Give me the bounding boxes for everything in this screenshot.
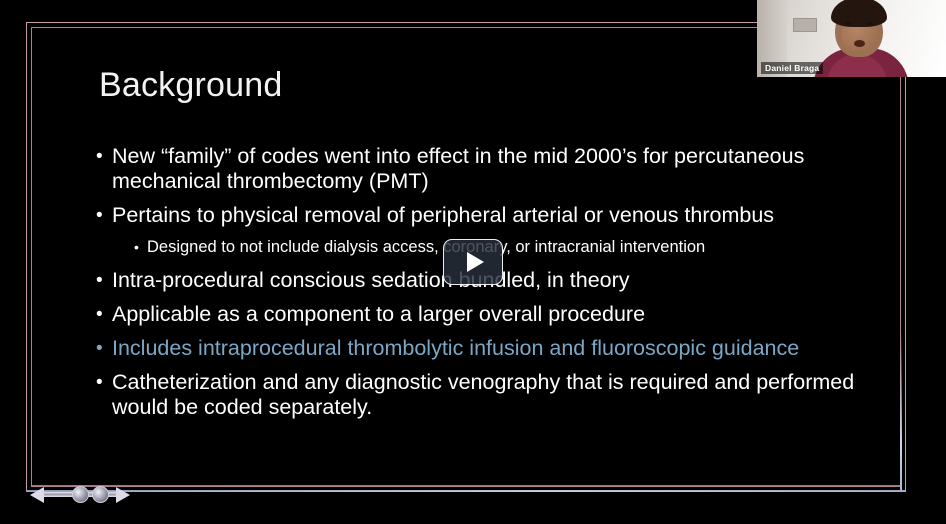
list-item-text: Includes intraprocedural thrombolytic in… bbox=[112, 336, 866, 361]
bullet-icon: • bbox=[134, 237, 147, 257]
slide-navigation-ornament bbox=[30, 478, 130, 512]
video-slide-viewer: Background • New “family” of codes went … bbox=[0, 0, 946, 524]
slide-frame-bottom-accent bbox=[26, 490, 906, 492]
bullet-icon: • bbox=[96, 144, 112, 169]
bullet-icon: • bbox=[96, 336, 112, 361]
webcam-person-hair bbox=[831, 0, 887, 27]
bullet-icon: • bbox=[96, 268, 112, 293]
slide-frame-right-accent bbox=[900, 330, 902, 492]
participant-name-label: Daniel Braga bbox=[761, 62, 823, 74]
webcam-person-mouth bbox=[854, 40, 865, 47]
list-item-text: Designed to not include dialysis access,… bbox=[147, 237, 866, 257]
list-item-highlighted: • Includes intraprocedural thrombolytic … bbox=[96, 336, 866, 361]
ornament-circle bbox=[72, 486, 89, 503]
bullet-icon: • bbox=[96, 203, 112, 228]
list-item: • New “family” of codes went into effect… bbox=[96, 144, 866, 194]
list-item: • Pertains to physical removal of periph… bbox=[96, 203, 866, 228]
slide-bullet-list: • New “family” of codes went into effect… bbox=[96, 144, 866, 429]
webcam-overlay[interactable]: Daniel Braga bbox=[757, 0, 946, 77]
arrow-right-icon bbox=[116, 487, 130, 503]
list-item-text: Applicable as a component to a larger ov… bbox=[112, 302, 866, 327]
list-item-text: New “family” of codes went into effect i… bbox=[112, 144, 866, 194]
bullet-icon: • bbox=[96, 302, 112, 327]
list-item-text: Pertains to physical removal of peripher… bbox=[112, 203, 866, 228]
list-item-text: Catheterization and any diagnostic venog… bbox=[112, 370, 866, 420]
webcam-person-eye-left bbox=[845, 22, 851, 25]
webcam-wall-picture bbox=[793, 18, 817, 32]
play-icon bbox=[467, 252, 484, 272]
ornament-circle bbox=[92, 486, 109, 503]
webcam-person-eye-right bbox=[867, 22, 873, 25]
list-item: • Applicable as a component to a larger … bbox=[96, 302, 866, 327]
arrow-left-icon bbox=[30, 487, 44, 503]
bullet-icon: • bbox=[96, 370, 112, 395]
list-item: • Catheterization and any diagnostic ven… bbox=[96, 370, 866, 420]
play-button[interactable] bbox=[443, 239, 503, 285]
slide-frame-bottom-accent-2 bbox=[31, 485, 901, 486]
page-title: Background bbox=[99, 66, 282, 105]
